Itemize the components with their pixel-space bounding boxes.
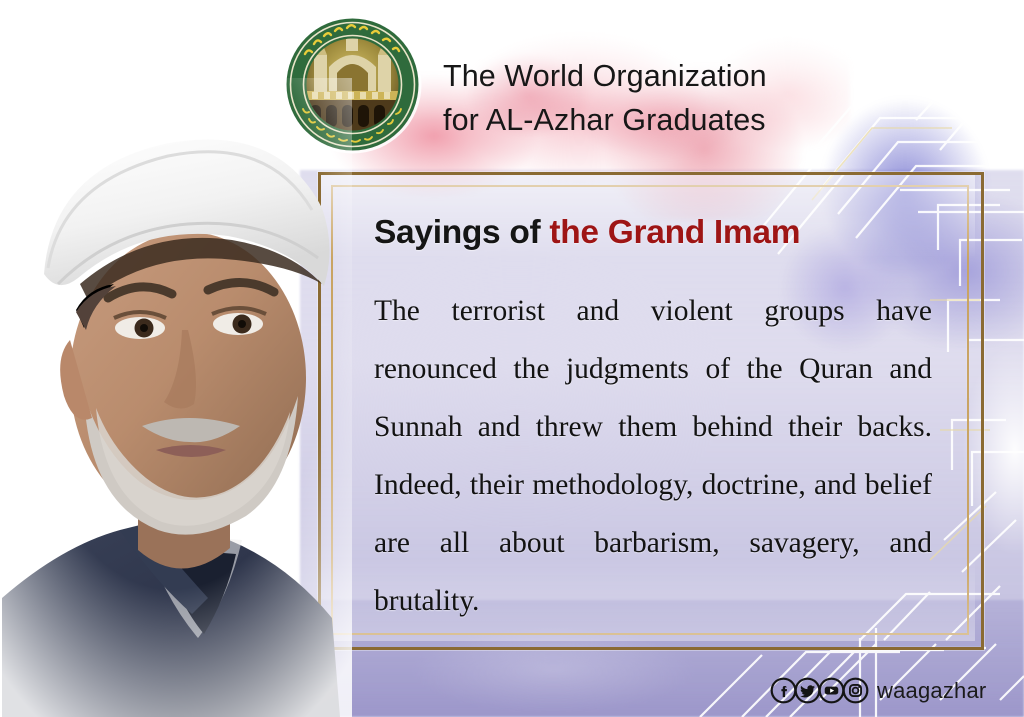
- quote-text: The terrorist and violent groups have re…: [374, 282, 932, 630]
- portrait-illustration: [0, 78, 352, 717]
- social-handle[interactable]: waagazhar: [877, 678, 986, 704]
- headline-prefix: Sayings of: [374, 214, 549, 251]
- grand-imam-portrait: [0, 78, 352, 717]
- twitter-icon[interactable]: [794, 677, 821, 704]
- organization-title-line2: for AL-Azhar Graduates: [443, 98, 883, 142]
- poster-canvas: . The World Organization for AL-Azhar Gr…: [0, 0, 1024, 717]
- headline: Sayings of the Grand Imam: [374, 214, 800, 252]
- facebook-icon[interactable]: [770, 677, 797, 704]
- instagram-icon[interactable]: [842, 677, 869, 704]
- organization-title: The World Organization for AL-Azhar Grad…: [443, 54, 883, 142]
- headline-highlight: the Grand Imam: [549, 214, 800, 251]
- organization-title-line1: The World Organization: [443, 59, 767, 93]
- social-bar: waagazhar: [770, 677, 986, 704]
- youtube-icon[interactable]: [818, 677, 845, 704]
